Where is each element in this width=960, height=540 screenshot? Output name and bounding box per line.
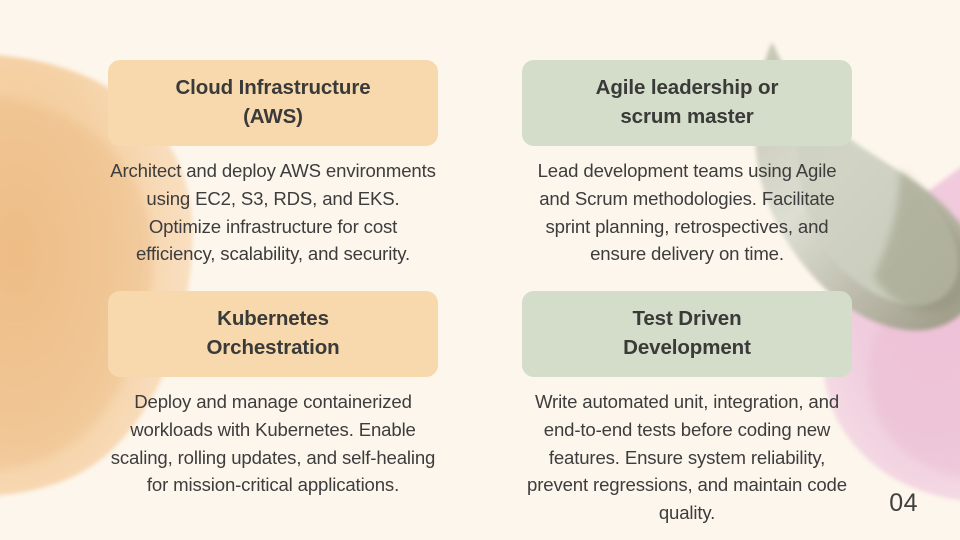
card-header-agile-leadership: Agile leadership or scrum master — [522, 60, 852, 146]
card-body-cloud-infrastructure: Architect and deploy AWS environments us… — [108, 157, 438, 268]
card-kubernetes-orchestration[interactable]: Kubernetes Orchestration Deploy and mana… — [108, 291, 438, 499]
column-right: Agile leadership or scrum master Lead de… — [522, 60, 852, 533]
card-header-kubernetes-orchestration: Kubernetes Orchestration — [108, 291, 438, 377]
card-title-line-2: Development — [540, 333, 834, 362]
card-test-driven-development[interactable]: Test Driven Development Write automated … — [522, 291, 852, 527]
card-body-kubernetes-orchestration: Deploy and manage containerized workload… — [108, 388, 438, 499]
card-title-line-2: scrum master — [540, 102, 834, 131]
column-left: Cloud Infrastructure (AWS) Architect and… — [108, 60, 438, 505]
card-title-line-1: Test Driven — [540, 304, 834, 333]
card-title-line-2: Orchestration — [126, 333, 420, 362]
card-title-line-1: Cloud Infrastructure — [126, 73, 420, 102]
page-number: 04 — [889, 489, 918, 518]
card-cloud-infrastructure[interactable]: Cloud Infrastructure (AWS) Architect and… — [108, 60, 438, 268]
card-body-test-driven-development: Write automated unit, integration, and e… — [522, 388, 852, 527]
card-header-test-driven-development: Test Driven Development — [522, 291, 852, 377]
card-agile-leadership[interactable]: Agile leadership or scrum master Lead de… — [522, 60, 852, 268]
card-title-line-1: Agile leadership or — [540, 73, 834, 102]
slide: Cloud Infrastructure (AWS) Architect and… — [0, 0, 960, 540]
card-header-cloud-infrastructure: Cloud Infrastructure (AWS) — [108, 60, 438, 146]
card-title-line-1: Kubernetes — [126, 304, 420, 333]
card-body-agile-leadership: Lead development teams using Agile and S… — [522, 157, 852, 268]
card-title-line-2: (AWS) — [126, 102, 420, 131]
